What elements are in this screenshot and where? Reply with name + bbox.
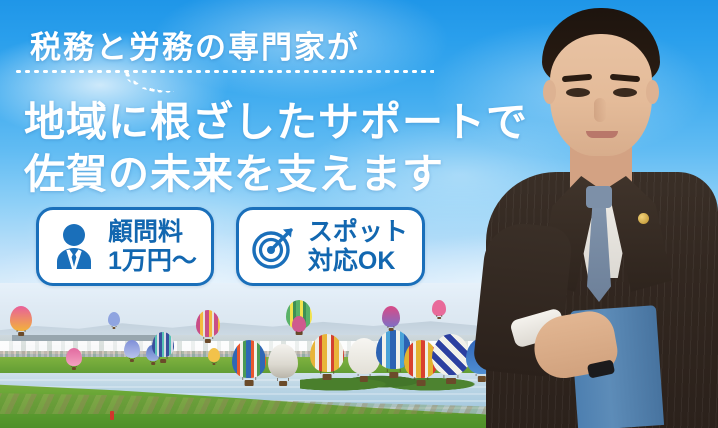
badge-spot-support-line-2: 対応OK (308, 247, 408, 276)
hero-banner: 税務と労務の専門家が 地域に根ざしたサポートで 佐賀の未来を支えます 顧問料 1… (0, 0, 718, 428)
dotted-divider (14, 70, 434, 73)
balloon (382, 306, 400, 331)
balloon (108, 312, 120, 329)
mouth (586, 131, 618, 138)
balloon (432, 334, 470, 384)
eye-left (566, 88, 590, 97)
headline-line-3: 佐賀の未来を支えます (24, 140, 444, 200)
balloon (152, 332, 174, 363)
badge-spot-support-text: スポット 対応OK (308, 218, 408, 275)
portrait-photo (486, 0, 718, 428)
balloon (310, 334, 344, 380)
headline-line-1: 税務と労務の専門家が (30, 22, 360, 67)
businessman-icon (50, 221, 98, 273)
balloon (292, 316, 306, 335)
target-arrow-icon (250, 222, 298, 272)
headline-line-2: 地域に根ざしたサポートで (24, 88, 528, 148)
badge-advisory-fee-line-1: 顧問料 (108, 218, 183, 246)
balloon (432, 300, 446, 319)
balloon (66, 348, 82, 370)
lapel-pin-icon (638, 213, 649, 224)
badge-advisory-fee-line-2: 1万円〜 (108, 247, 197, 276)
balloon (268, 344, 298, 386)
balloon (208, 348, 220, 365)
badge-advisory-fee[interactable]: 顧問料 1万円〜 (36, 207, 214, 286)
eye-right (613, 88, 637, 97)
balloon (124, 340, 140, 362)
badge-group: 顧問料 1万円〜 スポット 対応OK (36, 207, 425, 286)
badge-spot-support[interactable]: スポット 対応OK (236, 207, 425, 286)
balloon (10, 306, 32, 336)
nose (594, 98, 606, 122)
ear-left (543, 80, 556, 104)
badge-spot-support-line-1: スポット (308, 218, 408, 246)
necktie-knot (586, 186, 612, 208)
balloon (232, 340, 266, 386)
badge-advisory-fee-text: 顧問料 1万円〜 (108, 218, 197, 275)
balloon (196, 310, 220, 343)
ear-right (646, 80, 659, 104)
distant-person (110, 411, 114, 420)
